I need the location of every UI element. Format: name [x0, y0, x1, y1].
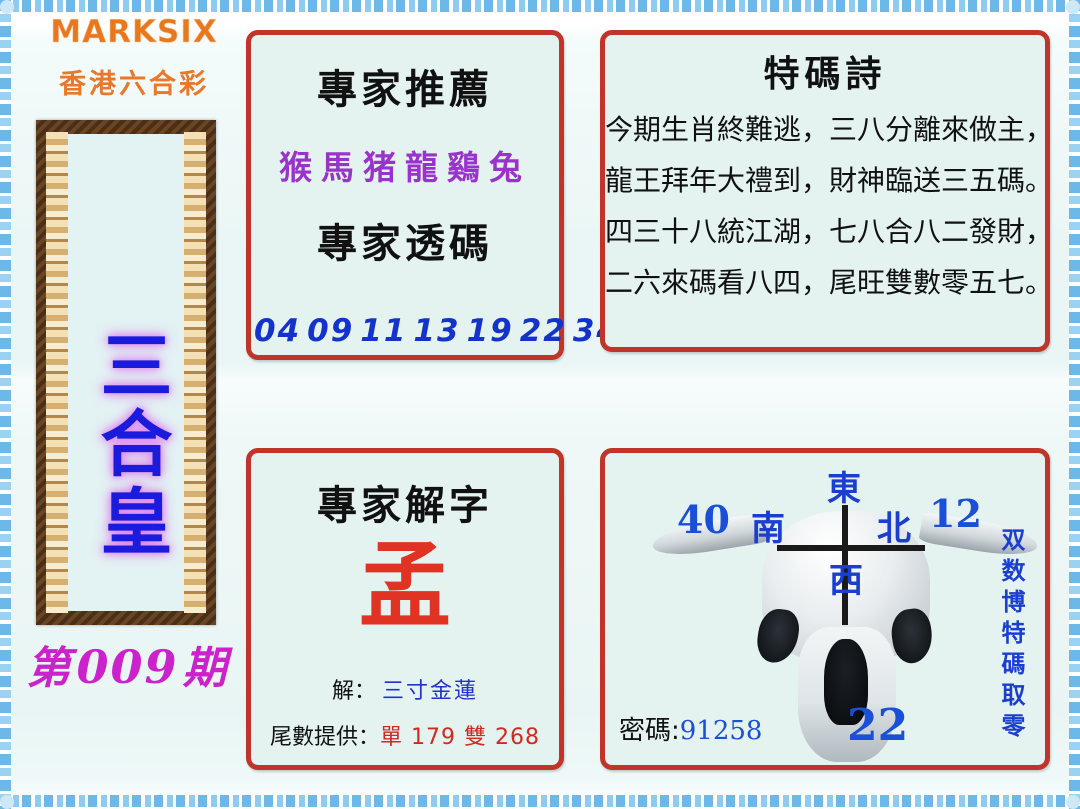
frame-corner-br [1066, 795, 1080, 809]
secret-code-label: 密碼: [619, 716, 680, 746]
skull-compass-panel: 東 南 北 西 40 12 22 双数博特碼取零 密碼:91258 [600, 448, 1050, 770]
frame-corner-tr [1066, 0, 1080, 14]
direction-south: 南 [751, 501, 785, 550]
secret-code-row: 密碼:91258 [619, 710, 762, 747]
expert-panel-title: 專家推薦 [251, 57, 559, 115]
tail-numbers-row: 尾數提供：單 179 雙 268 [251, 719, 559, 751]
explanation-value: 三寸金蓮 [376, 679, 478, 704]
skull-eye-socket-left [754, 606, 801, 665]
featured-character: 孟 [251, 541, 559, 633]
skull-illustration: 東 南 北 西 40 12 22 双数博特碼取零 密碼:91258 [605, 453, 1045, 765]
frame-corner-tl [0, 0, 14, 14]
explanation-row: 解：三寸金蓮 [251, 673, 559, 705]
decorative-frame-right [1069, 0, 1080, 809]
poem-line: 四三十八統江湖，七八合八二發財， [605, 210, 1045, 250]
scroll-banner: 三合皇 [36, 120, 216, 625]
lottery-number: 04 [251, 313, 304, 349]
char-panel-title: 專家解字 [251, 473, 559, 531]
zodiac-item: 猴 [279, 148, 321, 187]
zodiac-item: 猪 [363, 148, 405, 187]
lottery-number: 22 [517, 313, 570, 349]
decorative-frame-left [0, 0, 11, 809]
direction-east: 東 [827, 461, 861, 510]
poem-line: 龍王拜年大禮到，財神臨送三五碼。 [605, 159, 1045, 199]
tail-numbers-label: 尾數提供： [270, 725, 380, 750]
scroll-ornament-right [184, 132, 206, 613]
scroll-ornament-top [46, 132, 206, 158]
issue-label: 第009期 [20, 632, 235, 696]
expert-numbers-row: 04091113192234 [251, 313, 559, 349]
issue-prefix: 第 [26, 643, 72, 694]
frame-corner-bl [0, 795, 14, 809]
page-root: MARKSIX 香港六合彩 三合皇 第009期 專家推薦 猴馬猪龍鷄兔 專家透碼… [0, 0, 1080, 809]
direction-west: 西 [829, 553, 863, 602]
explanation-label: 解： [332, 679, 376, 704]
poem-title: 特碼詩 [605, 45, 1045, 97]
zodiac-item: 馬 [321, 148, 363, 187]
scroll-title-text: 三合皇 [86, 305, 166, 585]
skull-number-right: 12 [929, 491, 982, 536]
decorative-frame-bottom [0, 795, 1080, 807]
scroll-ornament-left [46, 132, 68, 613]
tail-numbers-value: 單 179 雙 268 [380, 725, 540, 750]
secret-code-value: 91258 [680, 716, 763, 746]
skull-number-bottom: 22 [847, 700, 908, 751]
scroll-ornament-bottom [46, 587, 206, 613]
poem-line: 二六來碼看八四，尾旺雙數零五七。 [605, 261, 1045, 301]
zodiac-item: 龍 [405, 148, 447, 187]
brand-name-en: MARKSIX [34, 14, 234, 50]
lottery-number: 11 [357, 313, 410, 349]
zodiac-item: 兔 [489, 148, 531, 187]
character-analysis-panel: 專家解字 孟 解：三寸金蓮 尾數提供：單 179 雙 268 [246, 448, 564, 770]
brand-block: MARKSIX 香港六合彩 [34, 14, 234, 101]
issue-suffix: 期 [183, 643, 229, 694]
brand-name-cn: 香港六合彩 [34, 62, 234, 101]
poem-panel: 特碼詩 今期生肖終難逃，三八分離來做主， 龍王拜年大禮到，財神臨送三五碼。 四三… [600, 30, 1050, 352]
lottery-number: 19 [464, 313, 517, 349]
direction-north: 北 [877, 501, 911, 550]
expert-recommendation-panel: 專家推薦 猴馬猪龍鷄兔 專家透碼 04091113192234 [246, 30, 564, 360]
poem-line: 今期生肖終難逃，三八分離來做主， [605, 108, 1045, 148]
zodiac-list: 猴馬猪龍鷄兔 [251, 141, 559, 189]
lottery-number: 09 [304, 313, 357, 349]
decorative-frame-top [0, 0, 1080, 12]
expert-panel-subtitle: 專家透碼 [251, 211, 559, 269]
zodiac-item: 鷄 [447, 148, 489, 187]
issue-number: 009 [72, 640, 182, 694]
skull-number-left: 40 [677, 497, 730, 542]
lottery-number: 13 [410, 313, 463, 349]
skull-vertical-text: 双数博特碼取零 [994, 527, 1029, 744]
